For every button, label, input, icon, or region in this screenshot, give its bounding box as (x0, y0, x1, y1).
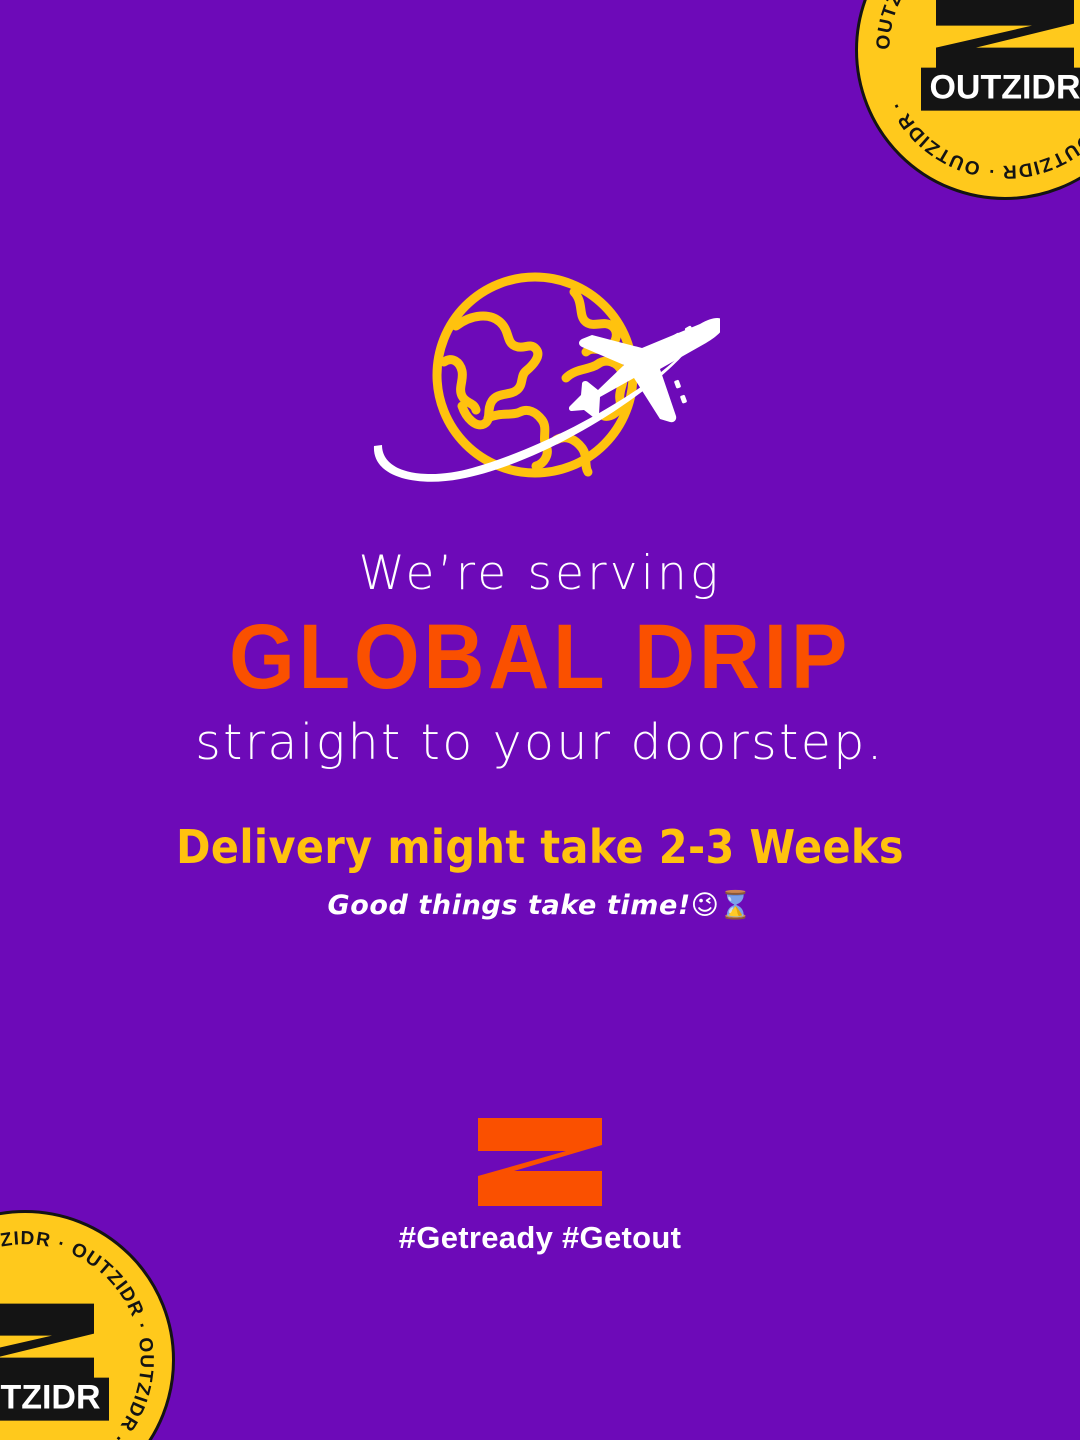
footer-brand-block: #Getready #Getout (0, 1118, 1080, 1256)
wink-and-hourglass-emoji: 😉⌛ (691, 890, 753, 921)
delivery-note-block: Delivery might take 2-3 Weeks Good thing… (0, 820, 1080, 921)
headline-line-2: GLOBAL DRIP (43, 605, 1037, 711)
badge-core-bottom-left: OUTZIDR (0, 1300, 113, 1421)
delivery-subtext-label: Good things take time! (327, 890, 690, 921)
footer-hashtags: #Getready #Getout (0, 1220, 1080, 1256)
headline-block: We’re serving GLOBAL DRIP straight to yo… (0, 548, 1080, 771)
headline-line-3: straight to your doorstep. (0, 716, 1080, 771)
promo-poster: OUTZIDR · OUTZIDR · OUTZIDR · OUTZIDR · … (0, 0, 1080, 1440)
badge-wordmark: OUTZIDR (0, 1378, 109, 1421)
delivery-subtext: Good things take time!😉⌛ (0, 889, 1080, 921)
headline-line-1: We’re serving (0, 548, 1080, 601)
delivery-timeframe-text: Delivery might take 2-3 Weeks (0, 820, 1080, 875)
badge-wordmark: OUTZIDR (921, 68, 1080, 111)
globe-with-airplane-icon (360, 270, 720, 510)
z-logo-icon (478, 1118, 602, 1206)
brand-badge-top-right: OUTZIDR · OUTZIDR · OUTZIDR · OUTZIDR · … (855, 0, 1080, 200)
badge-core-top-right: OUTZIDR (917, 0, 1080, 110)
